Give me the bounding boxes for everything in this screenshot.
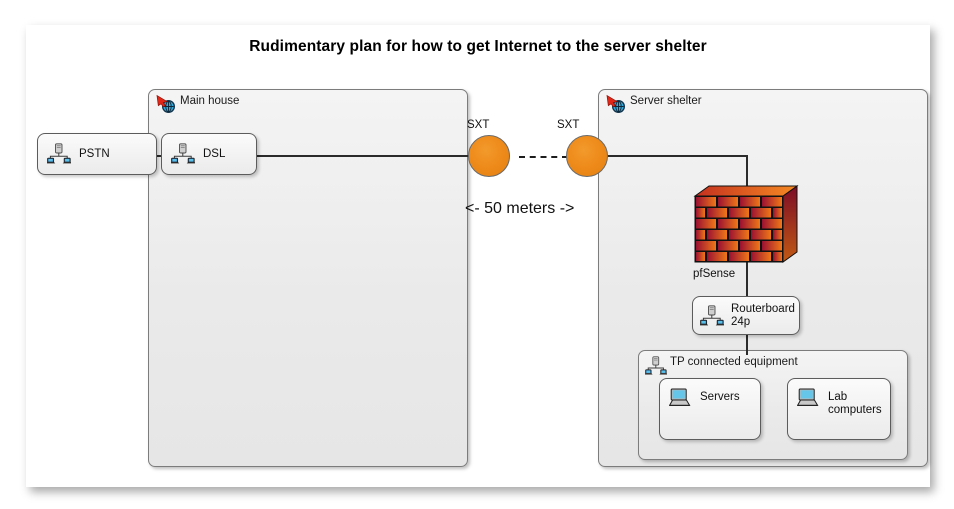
zone-server-shelter-label: Server shelter — [630, 95, 702, 107]
sxt-right-antenna[interactable] — [566, 135, 608, 177]
laptop-icon — [669, 388, 691, 412]
link-routerboard-to-tp-group — [746, 335, 748, 355]
network-icon — [645, 356, 667, 376]
network-zone-icon — [155, 94, 177, 114]
network-icon — [700, 305, 724, 332]
sxt-right-label: SXT — [557, 119, 579, 131]
node-routerboard-label: Routerboard 24p — [731, 303, 795, 329]
sxt-left-antenna[interactable] — [468, 135, 510, 177]
link-wireless-hop — [519, 156, 568, 158]
node-pstn-label: PSTN — [79, 148, 110, 161]
node-lab-computers[interactable]: Lab computers — [787, 378, 891, 440]
node-servers[interactable]: Servers — [659, 378, 761, 440]
node-servers-label: Servers — [700, 391, 740, 404]
sxt-left-label: SXT — [467, 119, 489, 131]
network-zone-icon — [605, 94, 627, 114]
wireless-distance-label: <- 50 meters -> — [465, 200, 574, 218]
zone-main-house-label: Main house — [180, 95, 239, 107]
diagram-screenshot: Rudimentary plan for how to get Internet… — [0, 0, 954, 509]
node-dsl-label: DSL — [203, 148, 225, 161]
node-pstn[interactable]: PSTN — [37, 133, 157, 175]
zone-tp-equipment-label: TP connected equipment — [670, 356, 798, 368]
network-icon — [171, 143, 195, 170]
diagram-canvas: Rudimentary plan for how to get Internet… — [26, 25, 930, 487]
link-dsl-to-sxt-left — [256, 155, 476, 157]
node-dsl[interactable]: DSL — [161, 133, 257, 175]
node-routerboard[interactable]: Routerboard 24p — [692, 296, 800, 335]
firewall-label: pfSense — [693, 268, 735, 280]
link-sxt-right-to-firewall — [608, 155, 748, 157]
brick-wall-icon[interactable] — [693, 182, 799, 264]
page-title: Rudimentary plan for how to get Internet… — [26, 38, 930, 56]
laptop-icon — [797, 388, 819, 412]
node-lab-computers-label: Lab computers — [828, 391, 882, 417]
network-icon — [47, 143, 71, 170]
